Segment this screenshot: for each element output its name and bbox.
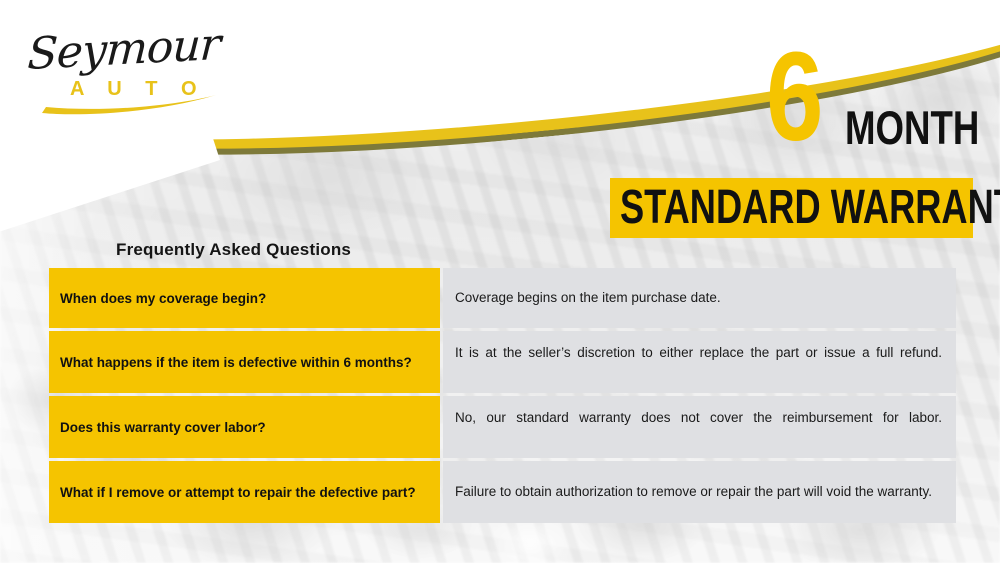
faq-answer: Coverage begins on the item purchase dat… <box>443 268 956 328</box>
faq-answer: It is at the seller’s discretion to eith… <box>443 331 956 393</box>
faq-answer: Failure to obtain authorization to remov… <box>443 461 956 523</box>
warranty-duration-number: 6 <box>766 34 822 160</box>
seymour-auto-logo: Seymour A U T O <box>18 18 228 110</box>
table-row: What happens if the item is defective wi… <box>49 331 956 393</box>
logo-brand-name: Seymour <box>26 19 221 80</box>
faq-table: When does my coverage begin? Coverage be… <box>49 268 956 526</box>
faq-question: When does my coverage begin? <box>49 268 440 328</box>
faq-question: What if I remove or attempt to repair th… <box>49 461 440 523</box>
standard-warranty-label: STANDARD WARRANTY <box>620 184 967 232</box>
faq-question: Does this warranty cover labor? <box>49 396 440 458</box>
faq-question: What happens if the item is defective wi… <box>49 331 440 393</box>
faq-heading: Frequently Asked Questions <box>116 240 351 260</box>
standard-warranty-banner: STANDARD WARRANTY <box>610 178 973 238</box>
logo-swoosh-icon <box>40 94 218 116</box>
table-row: What if I remove or attempt to repair th… <box>49 461 956 523</box>
table-row: Does this warranty cover labor? No, our … <box>49 396 956 458</box>
warranty-slide: Seymour A U T O 6 MONTH STANDARD WARRANT… <box>0 0 1000 563</box>
table-row: When does my coverage begin? Coverage be… <box>49 268 956 328</box>
faq-answer: No, our standard warranty does not cover… <box>443 396 956 458</box>
warranty-duration-unit: MONTH <box>845 104 979 151</box>
